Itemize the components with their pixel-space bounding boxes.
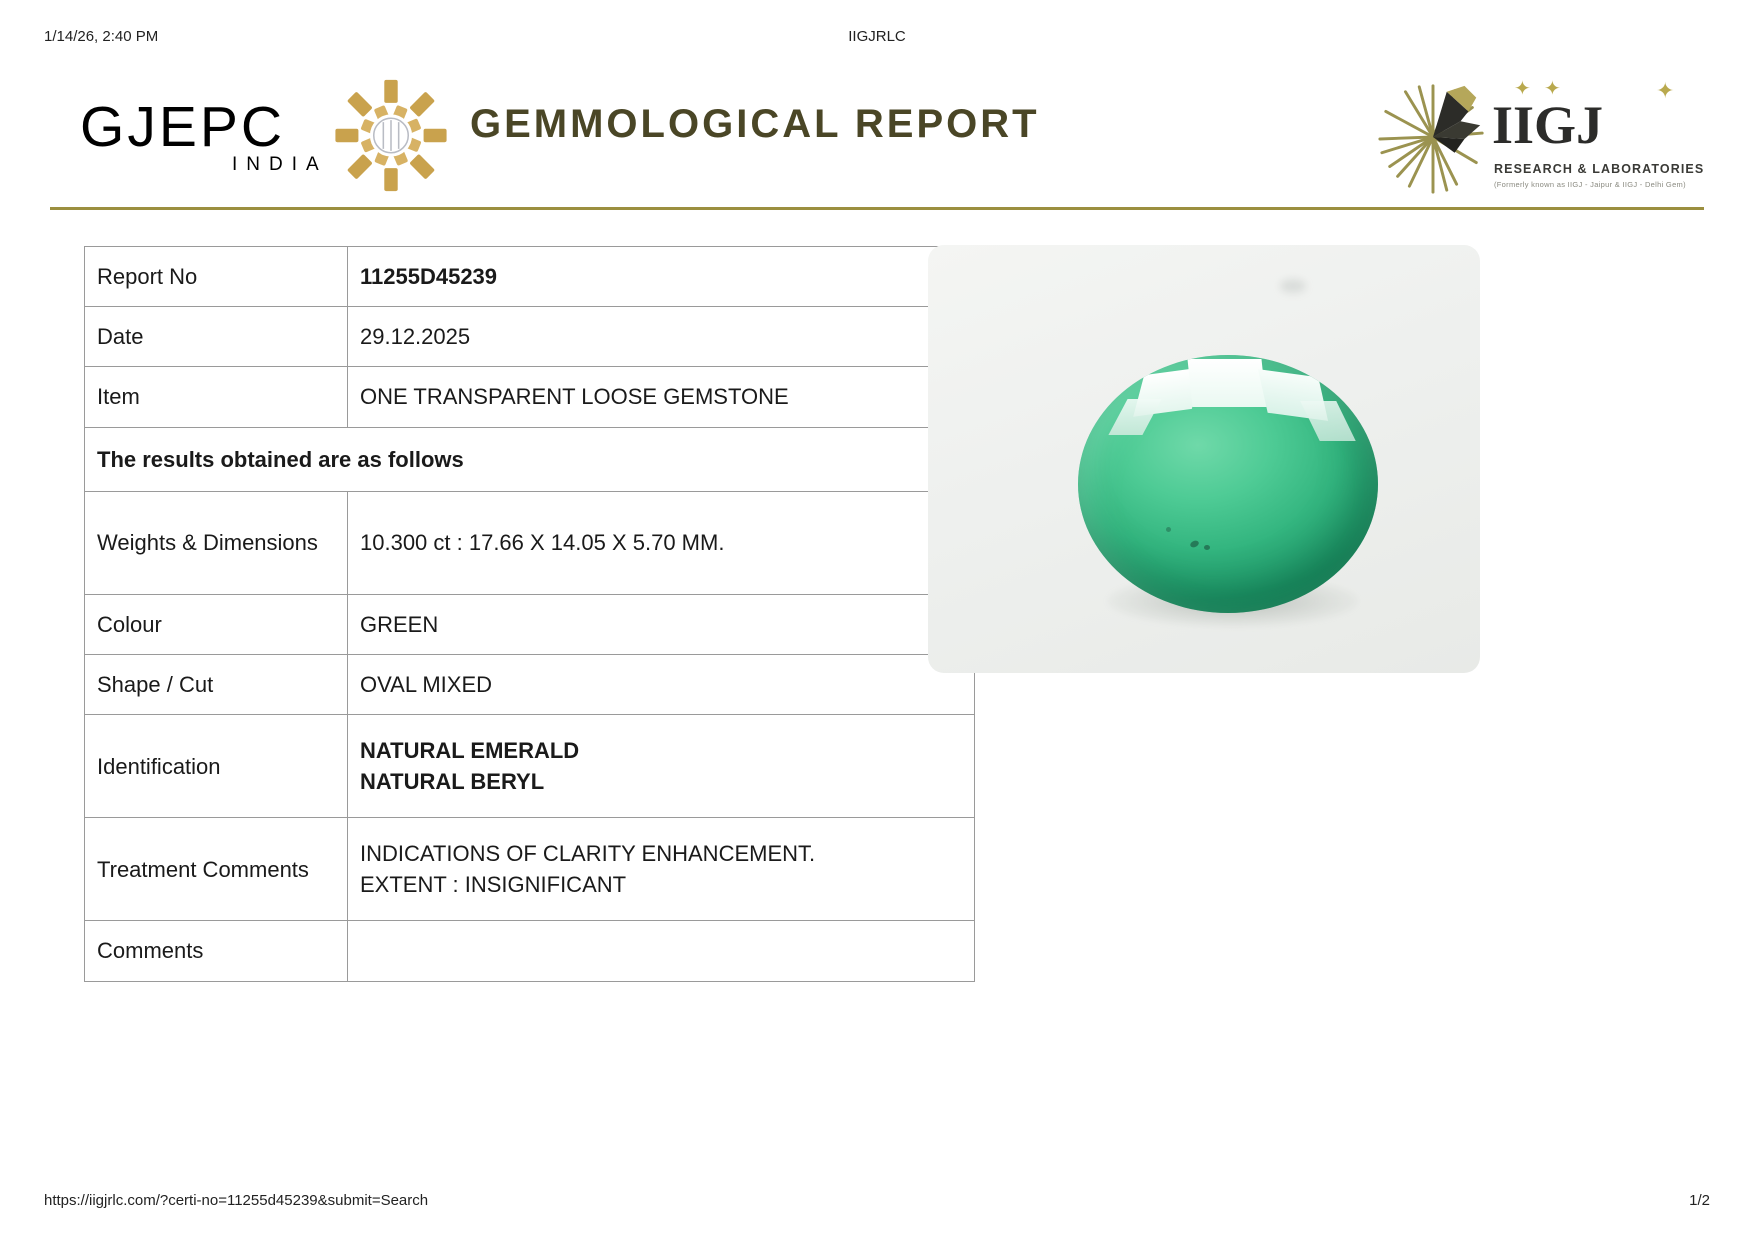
gjepc-diamond-burst-icon — [332, 78, 450, 193]
row-label-date: Date — [85, 307, 348, 367]
value-line: EXTENT : INSIGNIFICANT — [360, 869, 960, 900]
row-value-date: 29.12.2025 — [348, 307, 975, 367]
gemstone-inclusion — [1166, 527, 1171, 532]
row-value-shape-cut: OVAL MIXED — [348, 655, 975, 715]
crown-facet — [1108, 399, 1161, 435]
table-row: Weights & Dimensions 10.300 ct : 17.66 X… — [85, 491, 975, 594]
page-title: GEMMOLOGICAL REPORT — [470, 102, 1040, 147]
results-section-heading: The results obtained are as follows — [85, 427, 975, 491]
crown-facet — [1187, 359, 1266, 407]
row-value-identification: NATURAL EMERALD NATURAL BERYL — [348, 715, 975, 818]
row-value-weights-dimensions: 10.300 ct : 17.66 X 14.05 X 5.70 MM. — [348, 491, 975, 594]
row-label-report-no: Report No — [85, 247, 348, 307]
source-url: https://iigjrlc.com/?certi-no=11255d4523… — [44, 1192, 428, 1209]
row-label-identification: Identification — [85, 715, 348, 818]
print-header: 1/14/26, 2:40 PM IIGJRLC — [0, 28, 1754, 48]
table-row: Date 29.12.2025 — [85, 307, 975, 367]
print-footer: https://iigjrlc.com/?certi-no=11255d4523… — [0, 1192, 1754, 1212]
iigj-fine-print: (Formerly known as IIGJ - Jaipur & IIGJ … — [1494, 180, 1686, 189]
gemstone-photo — [928, 245, 1480, 673]
row-label-comments: Comments — [85, 921, 348, 981]
gjepc-wordmark: GJEPC — [80, 94, 285, 160]
table-row-section-heading: The results obtained are as follows — [85, 427, 975, 491]
iigj-starburst-icon — [1374, 78, 1492, 196]
gemstone-inclusion — [1189, 539, 1200, 548]
page-number: 1/2 — [1689, 1192, 1710, 1209]
row-label-weights-dimensions: Weights & Dimensions — [85, 491, 348, 594]
row-value-comments — [348, 921, 975, 981]
table-row: Colour GREEN — [85, 594, 975, 654]
row-label-item: Item — [85, 367, 348, 427]
row-label-colour: Colour — [85, 594, 348, 654]
row-value-report-no: 11255D45239 — [348, 247, 975, 307]
table-row: Item ONE TRANSPARENT LOOSE GEMSTONE — [85, 367, 975, 427]
crown-facet — [1300, 401, 1356, 441]
row-value-treatment-comments: INDICATIONS OF CLARITY ENHANCEMENT. EXTE… — [348, 818, 975, 921]
value-line: INDICATIONS OF CLARITY ENHANCEMENT. — [360, 838, 960, 869]
row-label-treatment-comments: Treatment Comments — [85, 818, 348, 921]
gemmological-report-table: Report No 11255D45239 Date 29.12.2025 It… — [84, 246, 975, 982]
gjepc-india-label: INDIA — [232, 154, 328, 176]
value-line: 10.300 ct : 17.66 X 14.05 X 5.70 MM. — [360, 527, 960, 558]
value-line: OVAL MIXED — [360, 669, 960, 700]
gemstone-inclusion — [1204, 545, 1210, 550]
table-row: Comments — [85, 921, 975, 981]
gemstone-image — [1078, 355, 1378, 613]
sparkle-icon-3: ✦ — [1656, 78, 1674, 104]
table-row: Report No 11255D45239 — [85, 247, 975, 307]
iigj-wordmark: IIGJ — [1492, 96, 1692, 156]
value-line: NATURAL EMERALD — [360, 735, 960, 766]
sparkle-icon-1: ✦ — [1514, 76, 1531, 101]
photo-background-speck — [1280, 279, 1306, 293]
value-line: NATURAL BERYL — [360, 766, 960, 797]
iigj-logo: IIGJ ✦ ✦ ✦ RESEARCH & LABORATORIES (Form… — [1374, 70, 1694, 205]
table-row: Treatment Comments INDICATIONS OF CLARIT… — [85, 818, 975, 921]
value-line: GREEN — [360, 609, 960, 640]
iigj-sublabel: RESEARCH & LABORATORIES — [1494, 162, 1704, 176]
masthead-divider — [50, 207, 1704, 210]
print-document-name: IIGJRLC — [0, 28, 1754, 45]
row-label-shape-cut: Shape / Cut — [85, 655, 348, 715]
row-value-colour: GREEN — [348, 594, 975, 654]
table-row: Shape / Cut OVAL MIXED — [85, 655, 975, 715]
sparkle-icon-2: ✦ — [1544, 76, 1561, 101]
gjepc-logo: GJEPC INDIA — [80, 78, 450, 193]
row-value-item: ONE TRANSPARENT LOOSE GEMSTONE — [348, 367, 975, 427]
masthead: GJEPC INDIA — [50, 70, 1704, 200]
report-table-body: Report No 11255D45239 Date 29.12.2025 It… — [85, 247, 975, 982]
table-row: Identification NATURAL EMERALD NATURAL B… — [85, 715, 975, 818]
